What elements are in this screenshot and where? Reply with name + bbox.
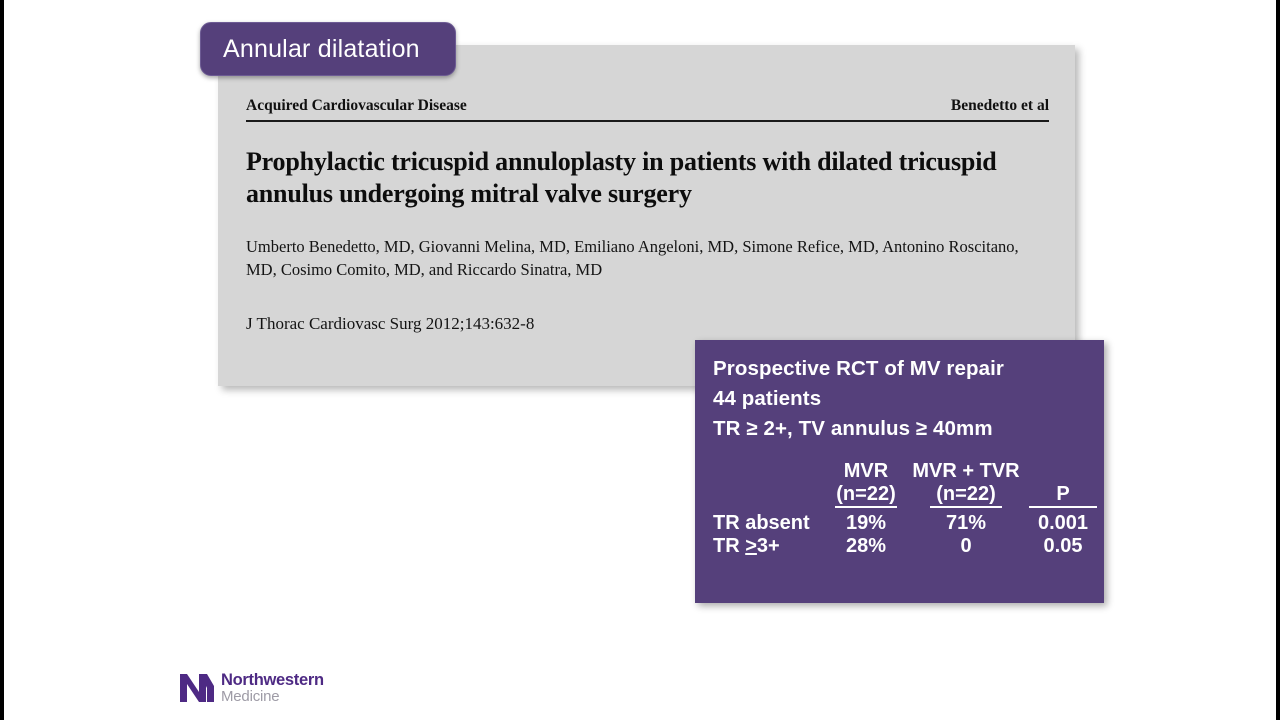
northwestern-medicine-logo: Northwestern Medicine	[180, 672, 324, 704]
letterbox-right-bar	[1276, 0, 1280, 720]
running-head-left: Acquired Cardiovascular Disease	[246, 97, 467, 115]
table-corner-cell	[695, 460, 822, 483]
study-summary-box: Prospective RCT of MV repair 44 patients…	[695, 340, 1104, 603]
col-subheader-mvr-n: (n=22)	[822, 483, 910, 506]
logo-line-northwestern: Northwestern	[221, 672, 324, 689]
col-subheader-mvr-tvr-n: (n=22)	[910, 483, 1022, 506]
logo-line-medicine: Medicine	[221, 689, 324, 704]
journal-running-head: Acquired Cardiovascular Disease Benedett…	[246, 97, 1049, 118]
row-label-tr-absent: TR absent	[695, 512, 822, 535]
summary-line-design: Prospective RCT of MV repair	[713, 354, 1104, 384]
row-label-prefix: TR	[713, 535, 745, 557]
slide-canvas: Annular dilatation Acquired Cardiovascul…	[0, 0, 1280, 720]
outcomes-table: MVR MVR + TVR (n=22) (n=22) P	[695, 460, 1104, 559]
cell-tr-absent-mvr: 19%	[822, 512, 910, 535]
cell-tr-grade3-p: 0.05	[1022, 535, 1104, 558]
col-header-p-spacer	[1022, 460, 1104, 483]
cell-tr-grade3-mvr: 28%	[822, 535, 910, 558]
cell-tr-absent-mvr-tvr: 71%	[910, 512, 1022, 535]
article-title: Prophylactic tricuspid annuloplasty in p…	[246, 146, 1049, 210]
table-corner-cell-sub	[695, 483, 822, 506]
journal-article-sheet: Acquired Cardiovascular Disease Benedett…	[218, 45, 1075, 386]
journal-head-divider	[246, 120, 1049, 122]
summary-line-criteria: TR ≥ 2+, TV annulus ≥ 40mm	[713, 414, 1104, 444]
cell-tr-absent-p: 0.001	[1022, 512, 1104, 535]
northwestern-nm-monogram-icon	[180, 674, 214, 702]
journal-article-content: Acquired Cardiovascular Disease Benedett…	[246, 97, 1049, 334]
letterbox-left-bar	[0, 0, 4, 720]
slide-title-label: Annular dilatation	[201, 35, 420, 64]
greater-equal-symbol: >	[745, 535, 757, 557]
summary-line-patients: 44 patients	[713, 384, 1104, 414]
col-header-mvr: MVR	[822, 460, 910, 483]
row-label-suffix: 3+	[757, 535, 780, 557]
northwestern-wordmark: Northwestern Medicine	[221, 672, 324, 704]
table-header-row-sub: (n=22) (n=22) P	[695, 483, 1104, 506]
cell-tr-grade3-mvr-tvr: 0	[910, 535, 1022, 558]
table-row: TR absent 19% 71% 0.001	[695, 512, 1104, 535]
article-authors: Umberto Benedetto, MD, Giovanni Melina, …	[246, 236, 1049, 282]
table-row: TR >3+ 28% 0 0.05	[695, 535, 1104, 558]
col-header-mvr-tvr: MVR + TVR	[910, 460, 1022, 483]
col-header-p-value: P	[1022, 483, 1104, 506]
slide-title-banner: Annular dilatation	[200, 22, 456, 76]
table-header-row-top: MVR MVR + TVR	[695, 460, 1104, 483]
study-summary-lines: Prospective RCT of MV repair 44 patients…	[695, 340, 1104, 444]
row-label-tr-grade3: TR >3+	[695, 535, 822, 558]
article-citation: J Thorac Cardiovasc Surg 2012;143:632-8	[246, 314, 1049, 334]
running-head-right: Benedetto et al	[951, 97, 1049, 115]
